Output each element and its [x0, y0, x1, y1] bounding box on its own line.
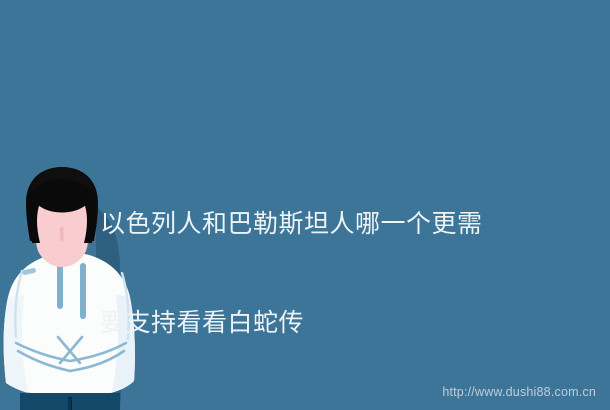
- headline-line-2: 要支持看看白蛇传: [100, 307, 595, 340]
- headline-line-1: 以色列人和巴勒斯坦人哪一个更需: [100, 208, 595, 241]
- headline-text: 以色列人和巴勒斯坦人哪一个更需 要支持看看白蛇传: [100, 142, 595, 406]
- site-watermark: http://www.dushi88.com.cn: [442, 385, 596, 399]
- article-thumbnail-banner: 以色列人和巴勒斯坦人哪一个更需 要支持看看白蛇传 http://www.dush…: [0, 0, 610, 410]
- face-shape: [35, 205, 89, 267]
